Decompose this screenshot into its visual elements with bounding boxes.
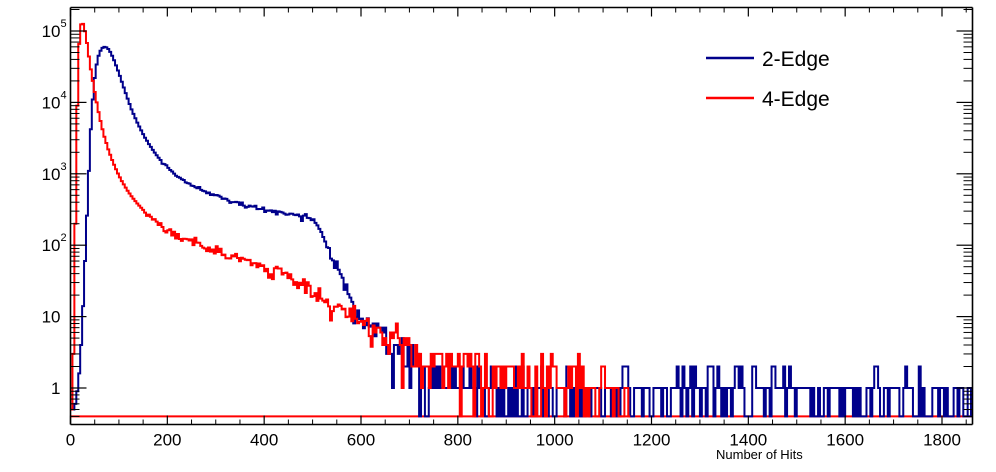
x-tick-label: 400: [250, 431, 278, 450]
legend-label-4-edge: 4-Edge: [762, 88, 830, 111]
x-tick-label: 1600: [826, 431, 864, 450]
x-axis-title: Number of Hits: [716, 447, 803, 462]
histogram-plot: 0200400600800100012001400160018001101021…: [0, 0, 996, 472]
x-tick-label: 1000: [536, 431, 574, 450]
y-tick-label: 1: [51, 379, 60, 398]
y-tick-label-exponent: 3: [61, 161, 67, 173]
y-tick-label-exponent: 5: [61, 18, 67, 30]
x-tick-label: 600: [347, 431, 375, 450]
legend-label-2-edge: 2-Edge: [762, 48, 830, 71]
y-tick-label-base: 10: [42, 165, 61, 184]
y-tick-label-base: 10: [42, 93, 61, 112]
y-tick-label-base: 10: [42, 22, 61, 41]
x-tick-label: 1800: [923, 431, 961, 450]
y-tick-label: 10: [42, 308, 61, 327]
y-tick-label-base: 1: [51, 379, 60, 398]
x-tick-label: 200: [153, 431, 181, 450]
x-tick-label: 800: [444, 431, 472, 450]
x-tick-label: 1200: [633, 431, 671, 450]
x-tick-label: 0: [66, 431, 75, 450]
y-tick-label-base: 10: [42, 308, 61, 327]
y-tick-label-exponent: 2: [61, 232, 67, 244]
y-tick-label-exponent: 4: [61, 89, 67, 101]
plot-canvas: 0200400600800100012001400160018001101021…: [0, 0, 996, 472]
y-tick-label-base: 10: [42, 236, 61, 255]
